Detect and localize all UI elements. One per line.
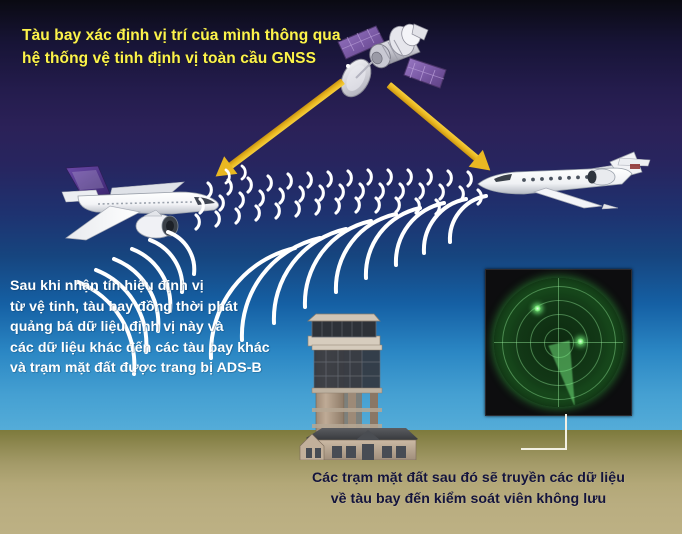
radar-blip-aircraft-1 [534,305,541,312]
airliner-left [52,152,232,250]
satellite-solar-panel-right [404,58,446,88]
infographic-canvas: Tàu bay xác định vị trí của mình thông q… [0,0,682,534]
wave-band-between-aircraft [196,170,481,229]
tower-cab-gallery [308,336,380,346]
jet-engine [588,169,616,185]
jet-right [472,146,652,226]
caption-ground-station-relay: Các trạm mặt đất sau đó sẽ truyền các dữ… [312,468,625,510]
tower-cab-roof [308,314,380,321]
caption-adsb-broadcast: Sau khi nhận tín hiệu định vị từ vệ tinh… [10,276,270,379]
arrow-gnss-to-airliner [216,84,345,181]
airliner-wing-near [66,206,140,240]
tower-mid-balcony [314,348,380,390]
radar-display-panel[interactable] [485,269,632,416]
satellite-dish-antenna [335,54,377,102]
tower-cab-glass [312,321,376,337]
radar-leader-line-horizontal [521,448,567,450]
radar-scope [494,278,623,407]
atc-control-tower [298,312,420,460]
radar-leader-line-vertical [565,414,567,450]
jet-wing-near [534,188,602,208]
caption-gnss-positioning: Tàu bay xác định vị trí của mình thông q… [22,24,341,70]
radar-blip-aircraft-2 [577,338,584,345]
